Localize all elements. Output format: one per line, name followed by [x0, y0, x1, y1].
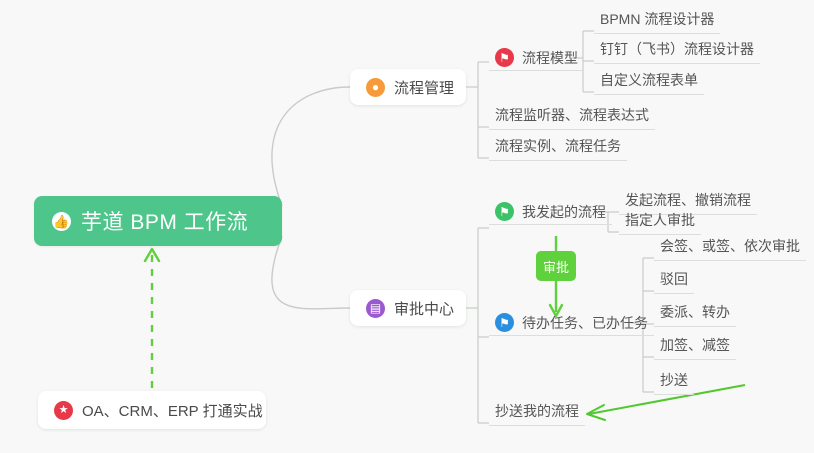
approval-label: 审批: [543, 257, 569, 276]
node-dingtalk-feishu-designer[interactable]: 钉钉（飞书）流程设计器: [594, 38, 760, 64]
root-label: 芋道 BPM 工作流: [81, 206, 248, 236]
node-label: 流程管理: [394, 77, 454, 98]
node-custom-process-form[interactable]: 自定义流程表单: [594, 69, 704, 95]
node-label: 会签、或签、依次审批: [660, 236, 800, 256]
clipboard-icon: ▤: [366, 299, 385, 318]
node-label: 流程实例、流程任务: [495, 136, 621, 156]
node-todo-done-task[interactable]: ⚑ 待办任务、已办任务: [489, 310, 654, 336]
lightbulb-icon: ●: [366, 78, 385, 97]
node-bpmn-designer[interactable]: BPMN 流程设计器: [594, 8, 720, 34]
flag-icon: ⚑: [495, 202, 514, 221]
node-assigned-approval[interactable]: 指定人审批: [619, 209, 701, 235]
flag-icon: ⚑: [495, 313, 514, 332]
node-countersign[interactable]: 会签、或签、依次审批: [654, 235, 806, 261]
node-cc-send[interactable]: 抄送: [654, 369, 694, 395]
node-label: 流程监听器、流程表达式: [495, 105, 649, 125]
node-shenpi-zhongxin[interactable]: ▤ 审批中心: [350, 290, 466, 326]
node-oa-crm-erp[interactable]: ★ OA、CRM、ERP 打通实战: [38, 391, 266, 429]
node-label: 抄送我的流程: [495, 401, 579, 421]
node-label: 流程模型: [522, 45, 578, 71]
node-instance-task[interactable]: 流程实例、流程任务: [489, 135, 627, 161]
node-label: 待办任务、已办任务: [522, 310, 648, 336]
node-label: BPMN 流程设计器: [600, 9, 714, 29]
arrow-head-up-icon: [145, 249, 159, 261]
connector-root-to-liucheng-guanli: [272, 87, 350, 206]
node-reject[interactable]: 驳回: [654, 268, 694, 294]
node-label: 指定人审批: [625, 210, 695, 230]
node-label: 我发起的流程: [522, 199, 606, 225]
node-label: 钉钉（飞书）流程设计器: [600, 39, 754, 59]
node-liucheng-guanli[interactable]: ● 流程管理: [350, 69, 466, 105]
node-listener-expression[interactable]: 流程监听器、流程表达式: [489, 104, 655, 130]
node-delegate-transfer[interactable]: 委派、转办: [654, 301, 736, 327]
node-label: 自定义流程表单: [600, 70, 698, 90]
approval-highlight-box[interactable]: 审批: [536, 251, 576, 281]
node-cc-to-me-process[interactable]: 抄送我的流程: [489, 400, 585, 426]
node-liucheng-moxing[interactable]: ⚑ 流程模型: [489, 45, 584, 71]
flag-icon: ⚑: [495, 48, 514, 67]
node-label: 驳回: [660, 269, 688, 289]
node-label: 抄送: [660, 370, 688, 390]
node-label: 发起流程、撤销流程: [625, 190, 751, 210]
node-my-started-process[interactable]: ⚑ 我发起的流程: [489, 199, 612, 225]
arrow-head-left-icon: [587, 405, 605, 420]
mindmap-canvas: 👍 芋道 BPM 工作流 ● 流程管理 ⚑ 流程模型 BPMN 流程设计器 钉钉…: [0, 0, 814, 453]
node-add-remove-sign[interactable]: 加签、减签: [654, 334, 736, 360]
star-icon: ★: [54, 401, 73, 420]
node-label: 审批中心: [394, 298, 454, 319]
root-node[interactable]: 👍 芋道 BPM 工作流: [34, 196, 282, 246]
thumbs-up-icon: 👍: [52, 212, 71, 231]
node-label: 委派、转办: [660, 302, 730, 322]
connector-root-to-shenpi-zhongxin: [272, 236, 350, 309]
node-label: OA、CRM、ERP 打通实战: [82, 400, 263, 421]
node-label: 加签、减签: [660, 335, 730, 355]
